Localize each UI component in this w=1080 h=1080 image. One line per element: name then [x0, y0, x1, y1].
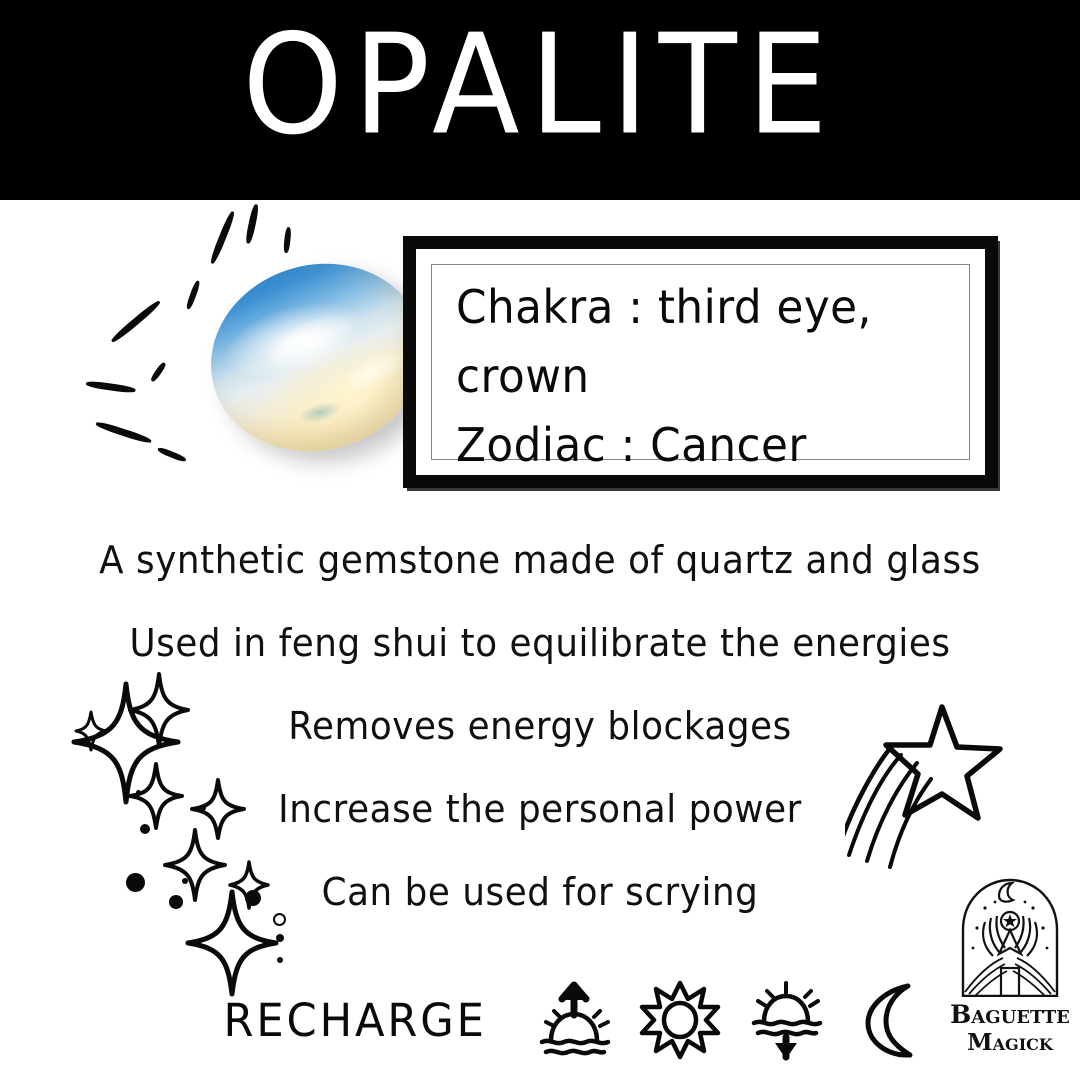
ray-4	[150, 361, 168, 382]
recharge-label: RECHARGE	[223, 994, 486, 1047]
brand-logo: Baguette Magick	[950, 872, 1070, 1072]
sun-icon	[638, 979, 722, 1061]
property-line-1: A synthetic gemstone made of quartz and …	[32, 538, 1047, 582]
ray-5	[110, 299, 162, 344]
property-line-4: Increase the personal power	[32, 787, 1047, 831]
logo-badge-icon	[955, 872, 1065, 997]
attributes-box-border: Chakra : third eye, crown Zodiac : Cance…	[403, 236, 998, 488]
page-title: OPALITE	[0, 15, 1080, 158]
chakra-line-2: crown	[456, 342, 940, 411]
ray-8	[245, 204, 260, 245]
attributes-box: Chakra : third eye, crown Zodiac : Cance…	[403, 236, 998, 488]
property-line-2: Used in feng shui to equilibrate the ene…	[32, 621, 1047, 665]
stone-teal-inclusion	[297, 398, 343, 428]
infographic-page: OPALITE Chakra : third eye, crown Zodiac…	[0, 0, 1080, 1080]
ray-2	[157, 446, 187, 463]
recharge-icons	[532, 979, 934, 1061]
stone-highlight-secondary	[330, 342, 412, 404]
moon-icon	[850, 979, 934, 1061]
logo-line-1: Baguette	[950, 1000, 1070, 1029]
gemstone-illustration	[60, 220, 390, 500]
sparkle-dot-8	[276, 934, 284, 942]
zodiac-line: Zodiac : Cancer	[456, 411, 940, 480]
shooting-star-icon	[845, 655, 1080, 875]
logo-line-2: Magick	[950, 1029, 1070, 1057]
sunset-icon	[744, 979, 828, 1061]
ray-3	[86, 380, 136, 394]
ray-9	[283, 227, 292, 253]
attributes-text: Chakra : third eye, crown Zodiac : Cance…	[456, 273, 940, 480]
sparkle-dot-9	[277, 957, 283, 963]
title-banner: OPALITE	[0, 0, 1080, 200]
property-line-3: Removes energy blockages	[32, 704, 1047, 748]
logo-wordmark: Baguette Magick	[950, 1000, 1070, 1057]
property-line-5: Can be used for scrying	[32, 870, 1047, 914]
sunrise-icon	[532, 979, 616, 1061]
recharge-row: RECHARGE	[218, 985, 934, 1055]
ray-1	[95, 420, 152, 445]
chakra-line-1: Chakra : third eye,	[456, 273, 940, 342]
ray-7	[209, 210, 236, 265]
ray-6	[185, 280, 201, 310]
sparkle-dot-7	[273, 913, 286, 926]
